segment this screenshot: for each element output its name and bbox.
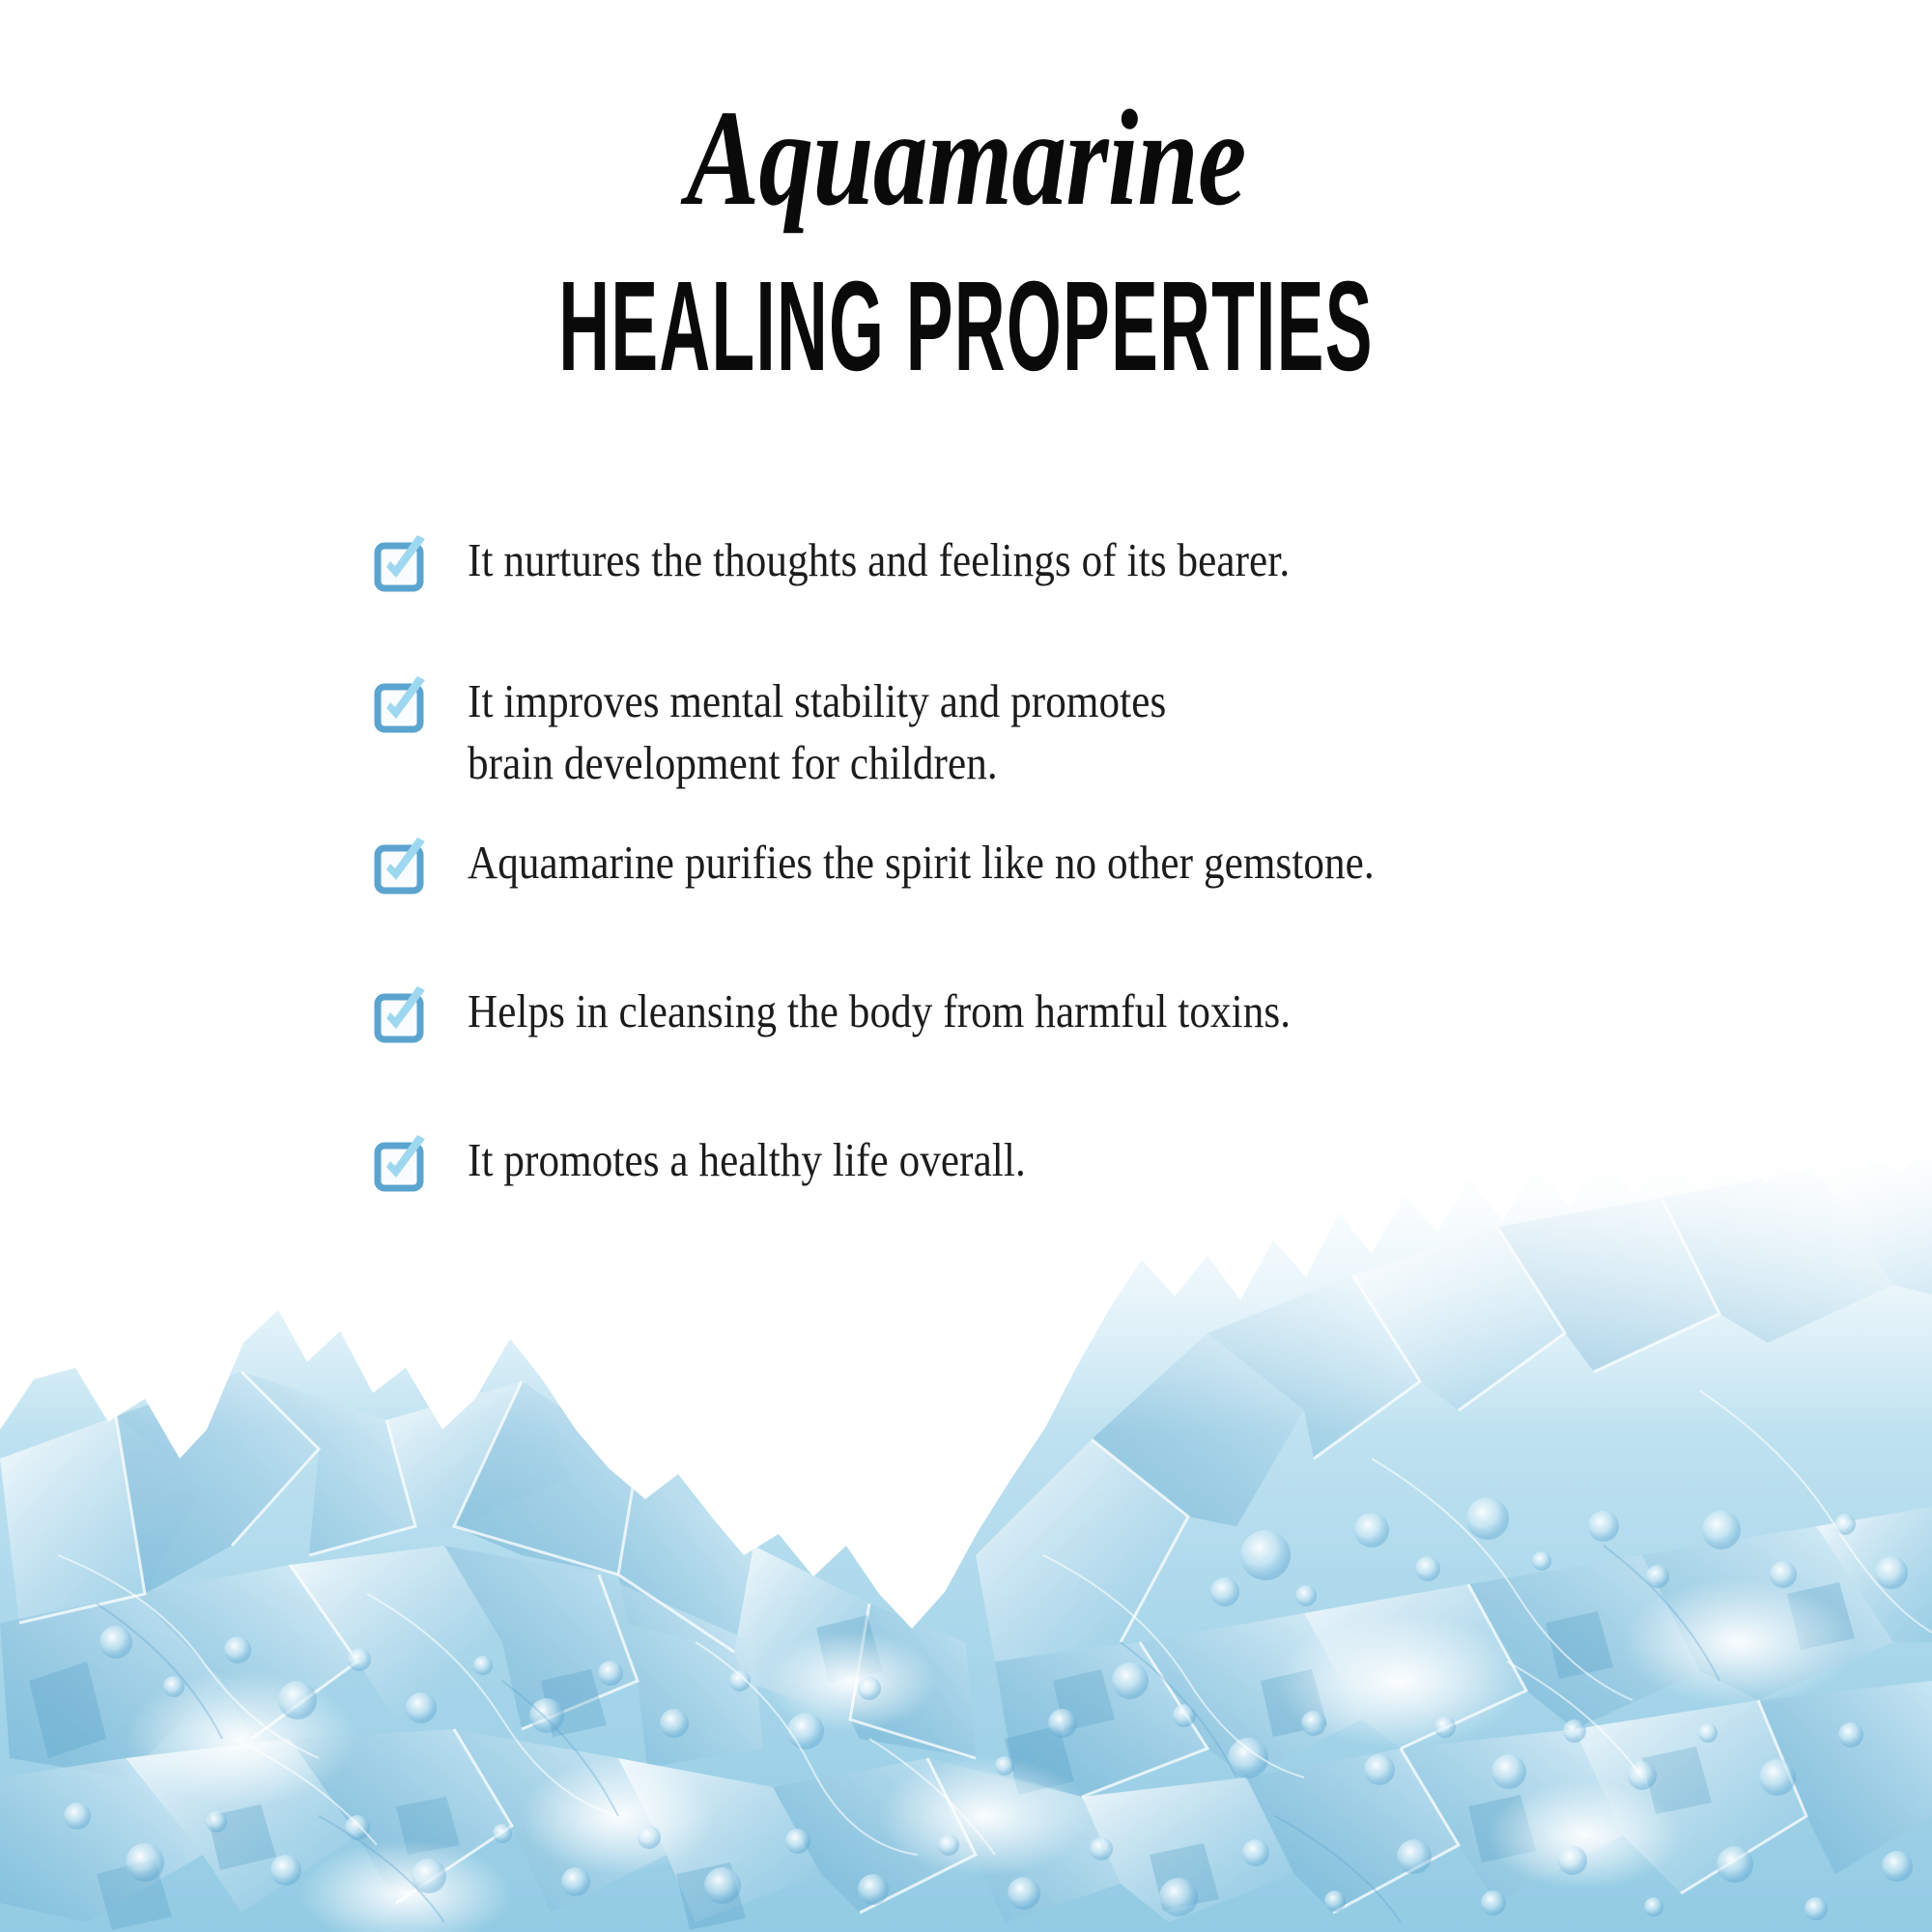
list-item-label: It nurtures the thoughts and feelings of… [468,529,1593,591]
page-title: Aquamarine [193,89,1739,226]
healing-properties-list: It nurtures the thoughts and feelings of… [375,529,1747,1195]
list-item: Helps in cleansing the body from harmful… [375,980,1747,1046]
checkbox-checked-icon [375,838,429,897]
list-item: It improves mental stability and promote… [375,670,1747,793]
list-item: It nurtures the thoughts and feelings of… [375,529,1747,595]
list-item: Aquamarine purifies the spirit like no o… [375,832,1747,897]
checkbox-checked-icon [375,986,429,1046]
ice-cubes-photo [0,1140,1932,1932]
checkbox-checked-icon [375,535,429,595]
list-item-label: It improves mental stability and promote… [468,670,1593,793]
list-item-label: Aquamarine purifies the spirit like no o… [468,832,1593,894]
header-block: Aquamarine HEALING PROPERTIES [0,0,1932,373]
list-item-label: Helps in cleansing the body from harmful… [468,980,1593,1042]
page-subtitle: HEALING PROPERTIES [367,226,1565,390]
infographic-page: { "header": { "title": "Aquamarine", "su… [0,0,1932,1932]
checkbox-checked-icon [375,676,429,736]
